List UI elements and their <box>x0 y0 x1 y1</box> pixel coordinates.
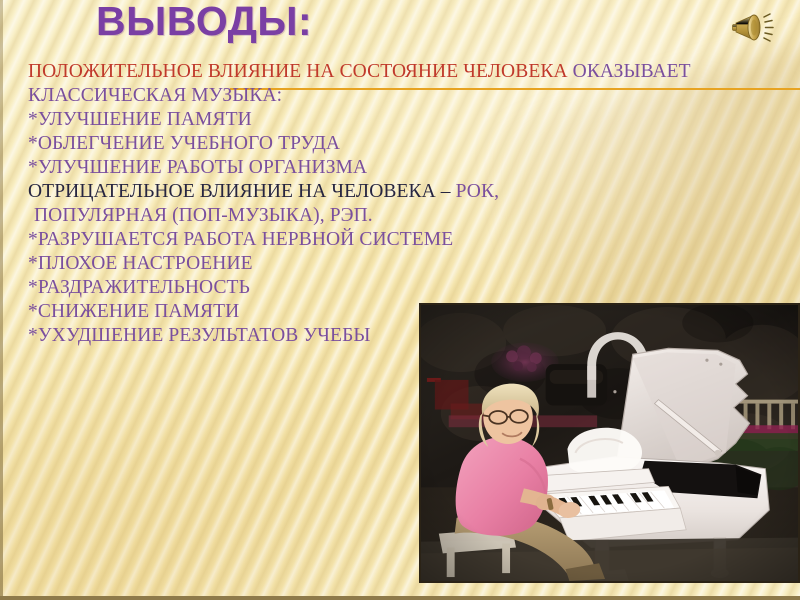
slide-bottom-edge <box>0 596 800 600</box>
body-line-4: *ОБЛЕГЧЕНИЕ УЧЕБНОГО ТРУДА <box>28 132 728 156</box>
body-line-1-part-b: ОКАЗЫВАЕТ <box>568 61 691 82</box>
piano-photo <box>419 303 800 583</box>
page-title: ВЫВОДЫ: <box>96 2 656 41</box>
body-line-2: КЛАССИЧЕСКАЯ МУЗЫКА: <box>28 84 728 108</box>
body-line-5: *УЛУЧШЕНИЕ РАБОТЫ ОРГАНИЗМА <box>28 156 728 180</box>
speaker-sound-icon[interactable] <box>730 6 788 48</box>
body-line-8: *РАЗРУШАЕТСЯ РАБОТА НЕРВНОЙ СИСТЕМЕ <box>28 228 728 252</box>
body-line-1-part-a: ПОЛОЖИТЕЛЬНОЕ ВЛИЯНИЕ НА СОСТОЯНИЕ ЧЕЛОВ… <box>28 61 568 82</box>
body-line-1: ПОЛОЖИТЕЛЬНОЕ ВЛИЯНИЕ НА СОСТОЯНИЕ ЧЕЛОВ… <box>28 60 728 84</box>
body-line-6-part-a: ОТРИЦАТЕЛЬНОЕ ВЛИЯНИЕ НА ЧЕЛОВЕКА – <box>28 181 456 202</box>
body-line-6-part-b: РОК, <box>456 181 499 202</box>
slide-canvas: ВЫВОДЫ: <box>0 0 800 600</box>
body-line-6: ОТРИЦАТЕЛЬНОЕ ВЛИЯНИЕ НА ЧЕЛОВЕКА – РОК, <box>28 180 728 204</box>
body-line-9: *ПЛОХОЕ НАСТРОЕНИЕ <box>28 252 728 276</box>
slide-left-edge <box>0 0 3 600</box>
body-line-7: ПОПУЛЯРНАЯ (ПОП-МУЗЫКА), РЭП. <box>28 204 728 228</box>
body-line-10: *РАЗДРАЖИТЕЛЬНОСТЬ <box>28 276 728 300</box>
body-line-3: *УЛУЧШЕНИЕ ПАМЯТИ <box>28 108 728 132</box>
